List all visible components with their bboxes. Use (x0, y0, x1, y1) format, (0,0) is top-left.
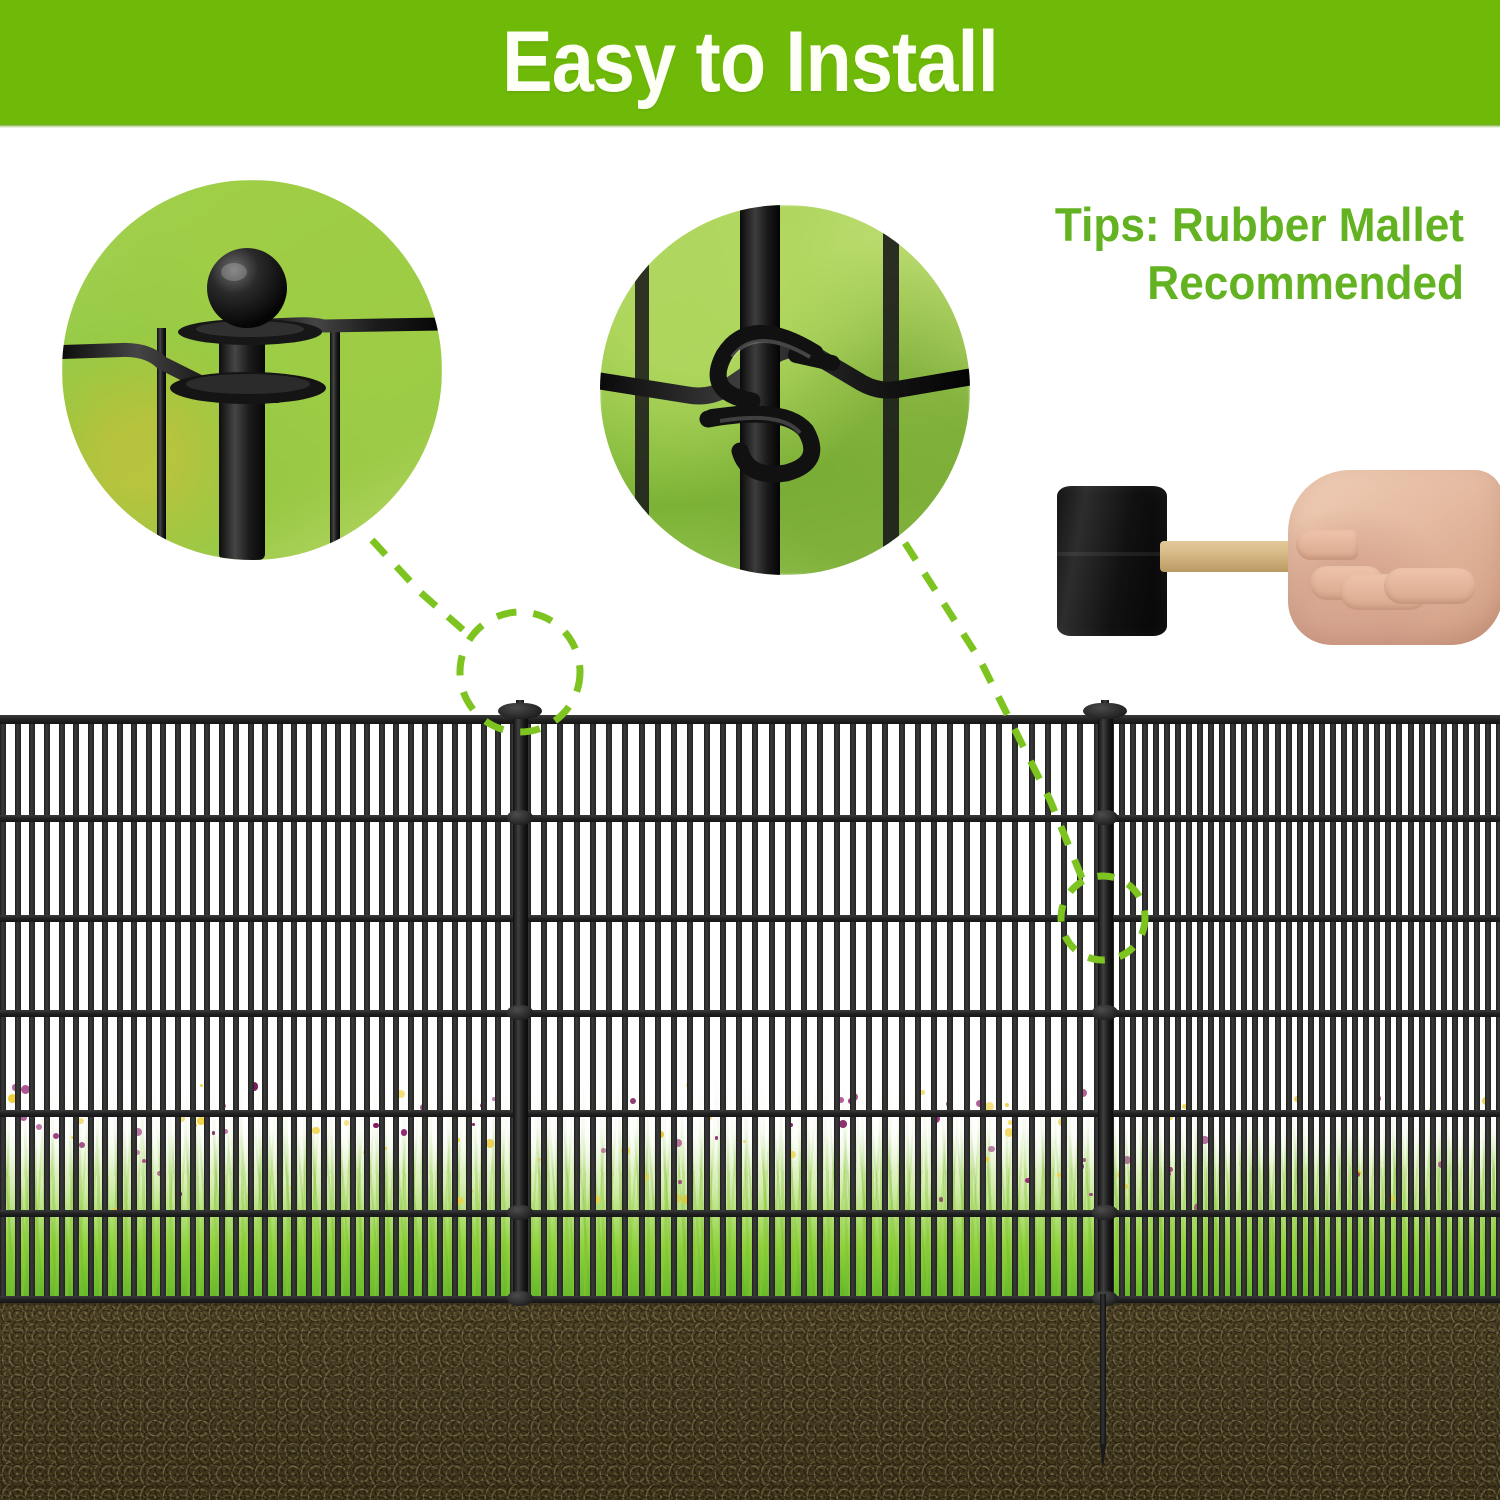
panel-connector-knob (1092, 810, 1118, 825)
fence-horizontal-rail (1105, 715, 1500, 724)
thumb (1296, 530, 1358, 560)
fence-horizontal-rail (1105, 915, 1500, 922)
fence-horizontal-rail (520, 815, 1105, 822)
fence-horizontal-rail (0, 1296, 520, 1303)
finial-collar (498, 703, 542, 719)
fence-horizontal-rail (1105, 1110, 1500, 1117)
wildflower (715, 1136, 719, 1140)
fence-horizontal-rail (520, 1210, 1105, 1217)
fence-horizontal-rail (520, 1010, 1105, 1017)
panel-connector-knob (507, 810, 533, 825)
wildflower (1008, 1120, 1012, 1124)
wildflower (939, 1197, 943, 1201)
panel-connector-knob (507, 1291, 533, 1306)
tips-line-1: Tips: Rubber Mallet (1055, 198, 1464, 251)
panel-connector-knob (1092, 1005, 1118, 1020)
fence-horizontal-rail (1105, 815, 1500, 822)
wildflower (920, 1090, 925, 1095)
infographic-root: Tips: Rubber Mallet Recommended Easy to … (0, 0, 1500, 1500)
fence-horizontal-rail (0, 915, 520, 922)
tips-text: Tips: Rubber Mallet Recommended (862, 196, 1464, 312)
tips-line-2: Recommended (1147, 256, 1464, 309)
fence-horizontal-rail (0, 715, 520, 724)
fence-horizontal-rail (1105, 1210, 1500, 1217)
wildflower (401, 1129, 408, 1136)
panel-connector-knob (1092, 1205, 1118, 1220)
soil-band (0, 1300, 1500, 1500)
fence-horizontal-rail (520, 715, 1105, 724)
fence-horizontal-rail (0, 1210, 520, 1217)
finial-detail-illustration (62, 180, 442, 560)
wildflower (373, 1123, 378, 1128)
wildflower (212, 1131, 216, 1135)
panel-connector-knob (507, 1205, 533, 1220)
wildflower (743, 1140, 746, 1143)
mallet-head (1057, 486, 1167, 636)
wildflower (312, 1127, 320, 1135)
wildflower (601, 1148, 606, 1153)
wildflower (1005, 1103, 1009, 1107)
fence-horizontal-rail (1105, 1296, 1500, 1303)
finial-collar (1083, 703, 1127, 719)
panel-connector-knob (507, 1005, 533, 1020)
fence-horizontal-rail (520, 915, 1105, 922)
wildflower (472, 1123, 475, 1126)
fence-horizontal-rail (0, 815, 520, 822)
fence-horizontal-rail (0, 1110, 520, 1117)
ground-stake-tip (1100, 1444, 1106, 1470)
ground-stake (1100, 1294, 1106, 1444)
hand-gripping-mallet (1288, 470, 1500, 645)
wildflower (988, 1146, 995, 1153)
fence-horizontal-rail (1105, 1010, 1500, 1017)
header-banner-edge (0, 124, 1500, 128)
callout-finial-detail (62, 180, 442, 560)
fence-horizontal-rail (0, 1010, 520, 1017)
fence-scene (0, 700, 1500, 1500)
fence-horizontal-rail (520, 1110, 1105, 1117)
finger (1384, 568, 1476, 604)
fence-horizontal-rail (520, 1296, 1105, 1303)
wildflower (678, 1180, 682, 1184)
wildflower (486, 1139, 495, 1148)
page-title: Easy to Install (90, 0, 1410, 124)
